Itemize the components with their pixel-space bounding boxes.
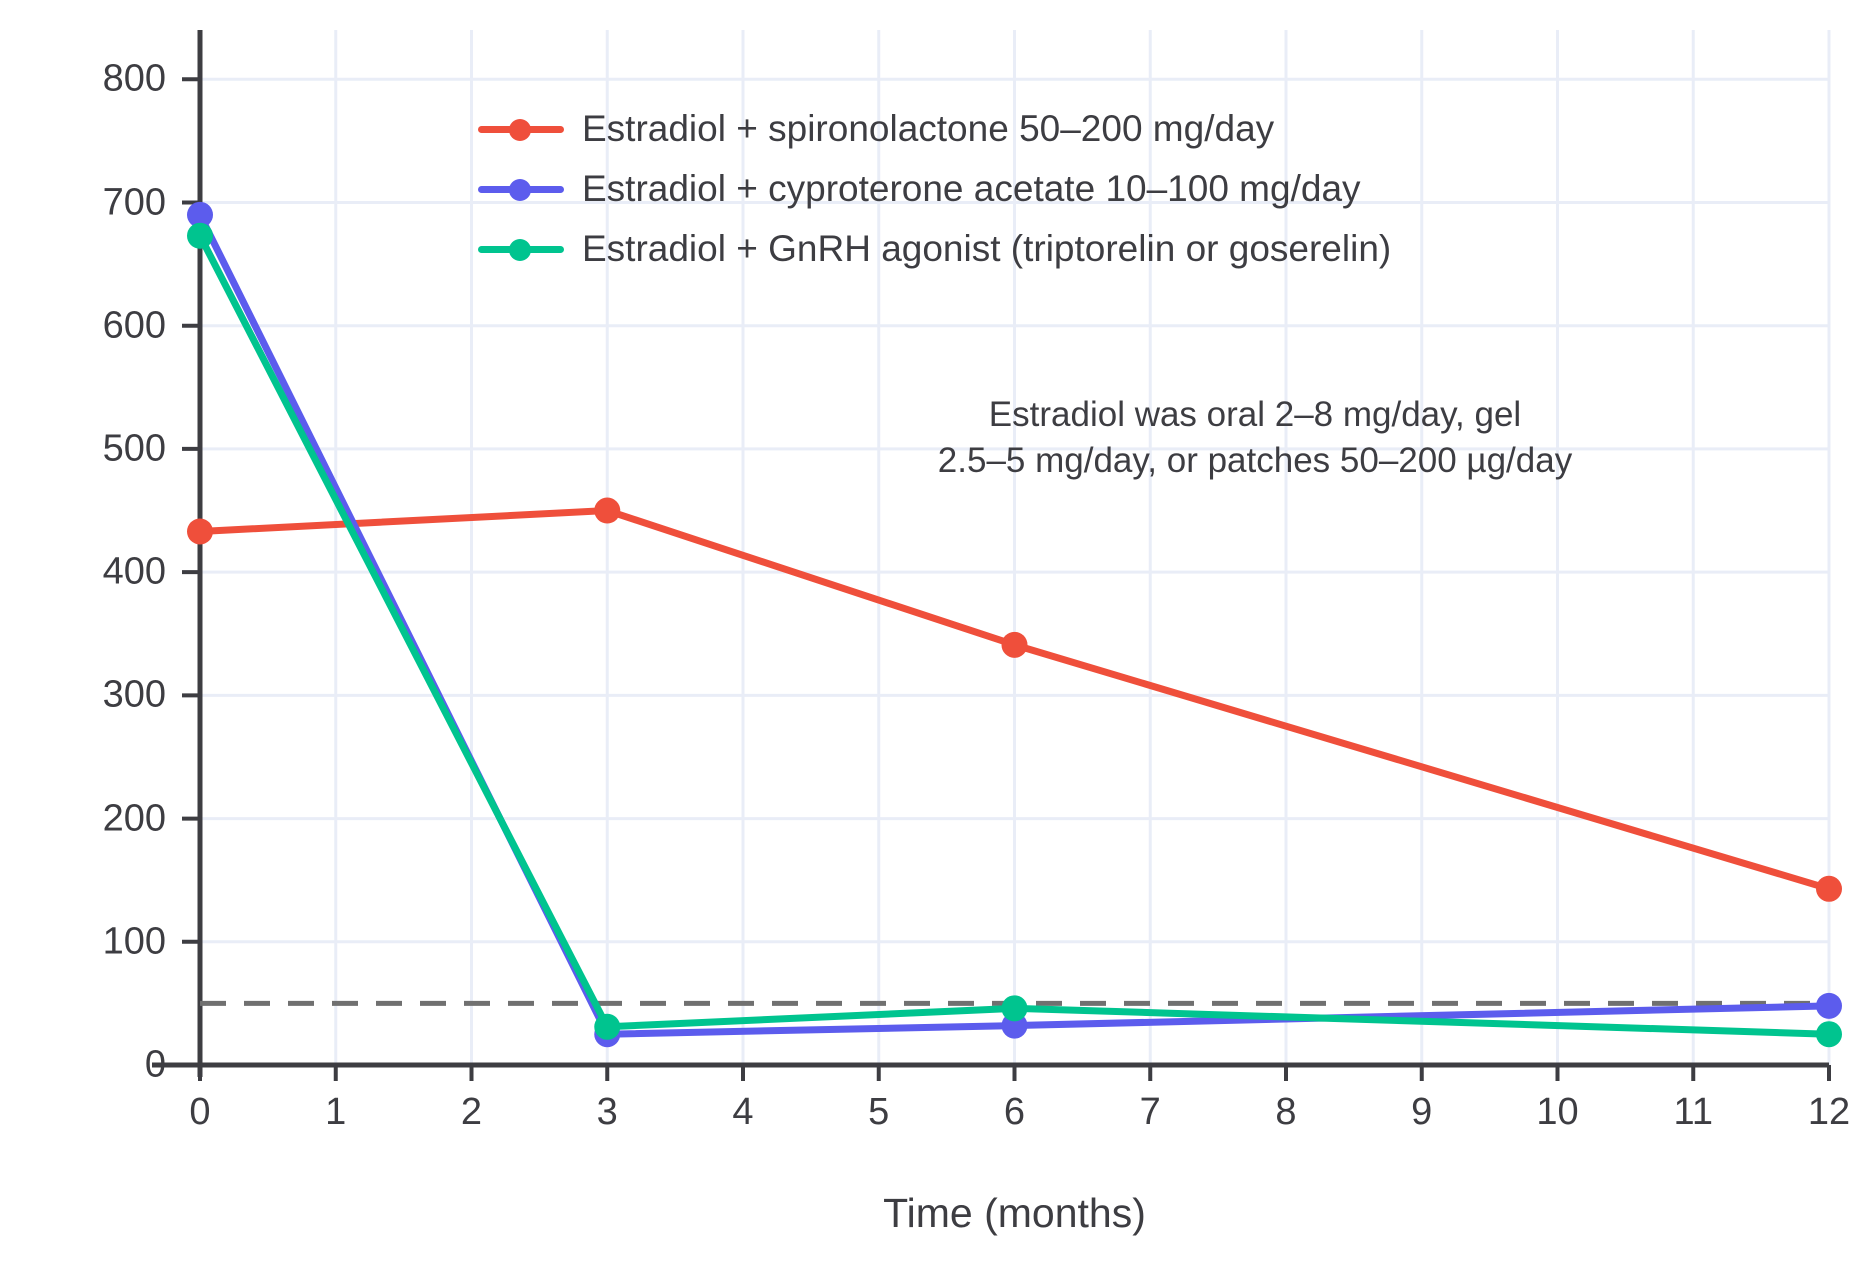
y-tick-label: 400 (103, 551, 166, 594)
legend-label-cyproterone: Estradiol + cyproterone acetate 10–100 m… (582, 168, 1361, 210)
x-tick-label: 6 (1004, 1091, 1025, 1134)
y-tick-label: 700 (103, 181, 166, 224)
annotation-line-2: 2.5–5 mg/day, or patches 50–200 µg/day (875, 438, 1635, 484)
y-tick-label: 600 (103, 304, 166, 347)
y-tick-label: 800 (103, 58, 166, 101)
x-tick-label: 0 (189, 1091, 210, 1134)
x-tick-label: 11 (1674, 1091, 1713, 1134)
legend: Estradiol + spironolactone 50–200 mg/day… (478, 108, 1391, 270)
x-tick-label: 4 (732, 1091, 753, 1134)
y-tick-label: 0 (145, 1044, 166, 1087)
x-tick-label: 1 (325, 1091, 346, 1134)
legend-item-cyproterone[interactable]: Estradiol + cyproterone acetate 10–100 m… (478, 168, 1391, 210)
x-tick-label: 3 (597, 1091, 618, 1134)
legend-item-spironolactone[interactable]: Estradiol + spironolactone 50–200 mg/day (478, 108, 1391, 150)
annotation-text: Estradiol was oral 2–8 mg/day, gel 2.5–5… (875, 392, 1635, 484)
x-axis-title: Time (months) (883, 1190, 1146, 1237)
x-tick-label: 12 (1808, 1091, 1850, 1134)
x-tick-label: 8 (1275, 1091, 1296, 1134)
legend-marker-icon-cyproterone (478, 175, 564, 203)
y-tick-label: 200 (103, 797, 166, 840)
legend-marker-icon-spironolactone (478, 115, 564, 143)
legend-marker-icon-gnrh (478, 235, 564, 263)
x-tick-label: 10 (1536, 1091, 1578, 1134)
y-tick-label: 100 (103, 920, 166, 963)
annotation-line-1: Estradiol was oral 2–8 mg/day, gel (875, 392, 1635, 438)
y-tick-label: 500 (103, 427, 166, 470)
legend-label-gnrh: Estradiol + GnRH agonist (triptorelin or… (582, 228, 1391, 270)
x-tick-label: 9 (1411, 1091, 1432, 1134)
x-tick-label: 2 (461, 1091, 482, 1134)
legend-item-gnrh[interactable]: Estradiol + GnRH agonist (triptorelin or… (478, 228, 1391, 270)
x-tick-label: 5 (868, 1091, 889, 1134)
chart-root: Testosterone levels (ng/dL) Time (months… (0, 0, 1856, 1284)
x-tick-label: 7 (1140, 1091, 1161, 1134)
legend-label-spironolactone: Estradiol + spironolactone 50–200 mg/day (582, 108, 1274, 150)
y-tick-label: 300 (103, 674, 166, 717)
